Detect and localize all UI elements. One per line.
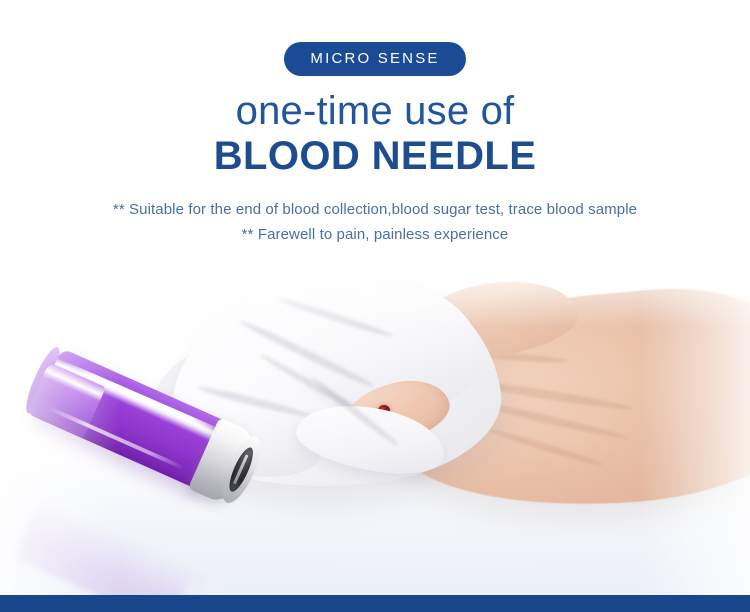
micro-sense-badge: MICRO SENSE — [284, 42, 465, 76]
product-photo — [0, 258, 750, 595]
subtitle-block: ** Suitable for the end of blood collect… — [0, 198, 750, 247]
bottom-accent-bar — [0, 595, 750, 612]
subtitle-line-1: ** Suitable for the end of blood collect… — [0, 198, 750, 222]
subtitle-line-2: ** Farewell to pain, painless experience — [0, 223, 750, 247]
product-banner: MICRO SENSE one-time use of BLOOD NEEDLE… — [0, 0, 750, 612]
header-text-block: MICRO SENSE one-time use of BLOOD NEEDLE… — [0, 0, 750, 262]
headline-light: one-time use of — [0, 90, 750, 133]
headline-bold: BLOOD NEEDLE — [0, 135, 750, 178]
